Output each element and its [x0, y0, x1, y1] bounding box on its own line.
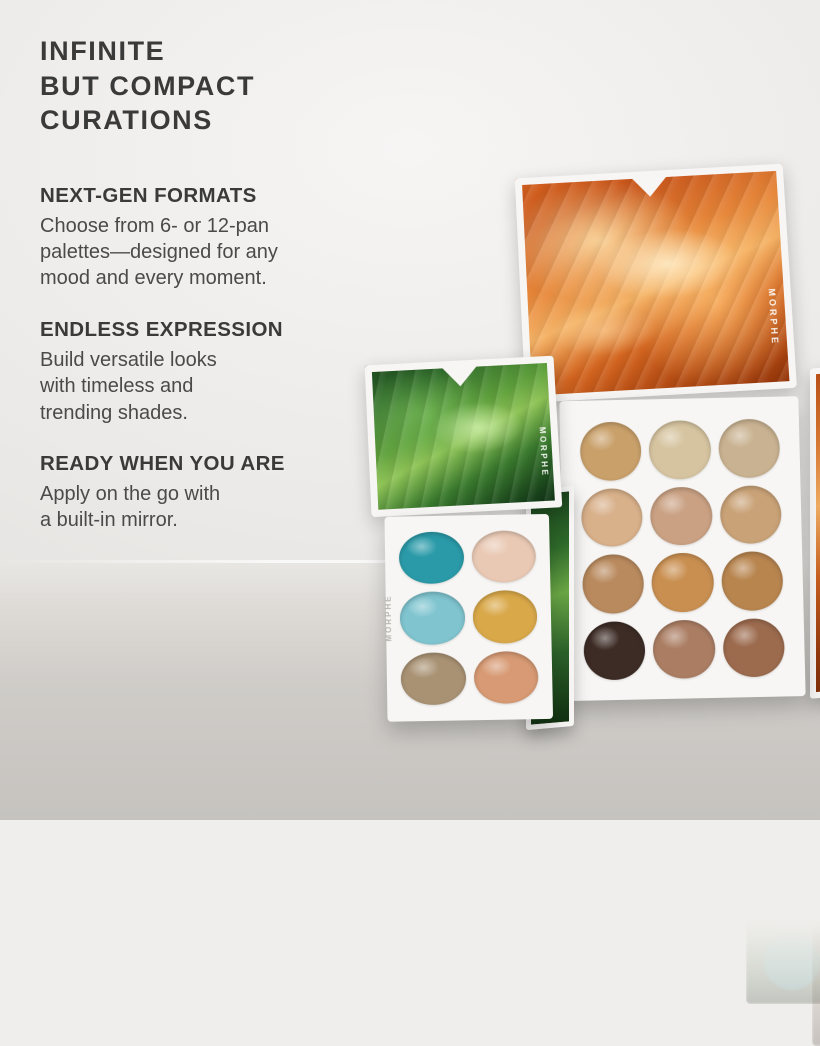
palette-6-tray: MORPHE [385, 514, 554, 722]
feature-body: Build versatile looks with timeless and … [40, 347, 400, 426]
feature-title: READY WHEN YOU ARE [40, 452, 400, 476]
feature-body-line-1: Choose from 6- or 12-pan [40, 213, 400, 239]
marketing-copy: INFINITE BUT COMPACT CURATIONS NEXT-GEN … [40, 34, 400, 560]
eyeshadow-pan[interactable] [400, 591, 465, 644]
feature-body-line-2: palettes—designed for any [40, 239, 400, 265]
feature-body-line-1: Apply on the go with [40, 481, 400, 507]
feature-body: Apply on the go with a built-in mirror. [40, 481, 400, 534]
palette-6-lid: MORPHE [365, 356, 563, 518]
headline-line-1: INFINITE [40, 34, 400, 69]
eyeshadow-pan[interactable] [653, 619, 716, 679]
eyeshadow-pan[interactable] [473, 650, 539, 704]
palette-12-side-flap: MORPHE [810, 363, 820, 698]
palette-6-pan-grid [399, 530, 539, 705]
eyeshadow-pan[interactable] [401, 652, 466, 706]
feature-body-line-3: trending shades. [40, 400, 400, 426]
feature-title: NEXT-GEN FORMATS [40, 184, 400, 208]
feature-block-endless-expression: ENDLESS EXPRESSION Build versatile looks… [40, 318, 400, 426]
eyeshadow-pan[interactable] [718, 418, 780, 477]
page-title: INFINITE BUT COMPACT CURATIONS [40, 34, 400, 138]
headline-line-2: BUT COMPACT [40, 69, 400, 104]
palette-6-reflection [746, 884, 820, 1004]
product-group: MORPHE MORPHE MORPHE MORPHE [360, 170, 820, 770]
feature-body-line-2: a built-in mirror. [40, 507, 400, 533]
feature-block-next-gen-formats: NEXT-GEN FORMATS Choose from 6- or 12-pa… [40, 184, 400, 292]
eyeshadow-pan[interactable] [719, 485, 782, 545]
headline-line-3: CURATIONS [40, 103, 400, 138]
reflection-pans [764, 806, 820, 990]
eyeshadow-pan[interactable] [651, 552, 714, 612]
feature-body-line-1: Build versatile looks [40, 347, 400, 373]
feature-block-ready-when-you-are: READY WHEN YOU ARE Apply on the go with … [40, 452, 400, 534]
feature-title: ENDLESS EXPRESSION [40, 318, 400, 342]
feature-body: Choose from 6- or 12-pan palettes—design… [40, 213, 400, 292]
eyeshadow-pan[interactable] [399, 531, 464, 584]
lid-notch-icon [443, 367, 478, 388]
feature-body-line-3: mood and every moment. [40, 265, 400, 291]
eyeshadow-pan[interactable] [471, 530, 536, 583]
palette-6-pan[interactable]: MORPHE MORPHE [360, 360, 660, 890]
eyeshadow-pan[interactable] [722, 618, 785, 678]
lid-notch-icon [632, 177, 667, 198]
product-hero-image: INFINITE BUT COMPACT CURATIONS NEXT-GEN … [0, 0, 820, 820]
feature-body-line-2: with timeless and [40, 373, 400, 399]
eyeshadow-pan[interactable] [721, 551, 784, 611]
eyeshadow-pan[interactable] [472, 590, 537, 643]
tray-side-label: MORPHE [384, 594, 394, 641]
